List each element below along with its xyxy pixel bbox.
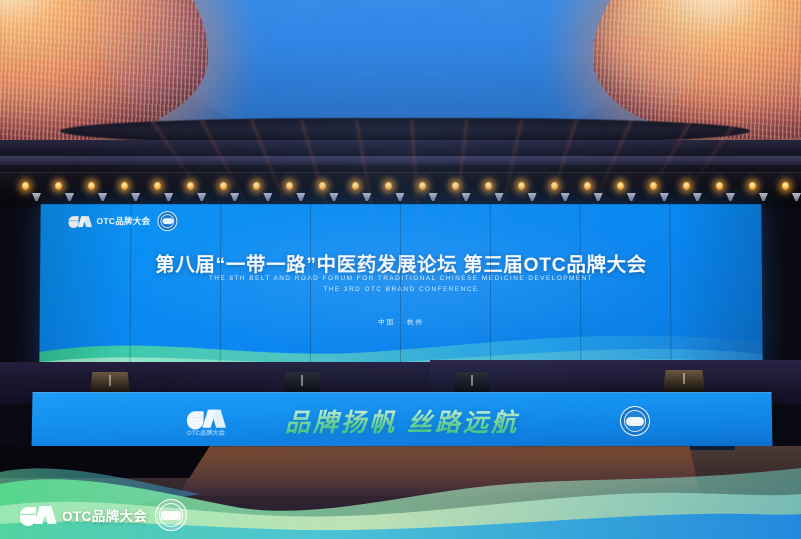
spotlight-icon xyxy=(683,182,690,190)
light-fixture-icon xyxy=(164,193,173,201)
podium-slogan: 品牌扬帆 丝路远航 xyxy=(32,403,773,439)
spotlight-icon xyxy=(253,182,260,190)
light-fixture-icon xyxy=(561,193,570,201)
circular-seal-emblem-icon xyxy=(155,499,187,531)
light-fixture-icon xyxy=(495,193,504,201)
watermark-brand-text: OTC品牌大会 xyxy=(62,505,147,525)
screen-panel-seam xyxy=(400,204,401,372)
spotlight-icon xyxy=(352,182,359,190)
lectern xyxy=(663,370,705,392)
spotlight-icon xyxy=(22,182,29,190)
light-fixture-icon xyxy=(362,193,371,201)
light-fixture-icon xyxy=(263,193,272,201)
led-screen: OTC品牌大会 第八届“一带一路”中医药发展论坛 第三届OTC品牌大会 THE … xyxy=(39,204,762,372)
spotlight-icon xyxy=(88,182,95,190)
light-fixture-icon xyxy=(594,193,603,201)
spotlight-icon xyxy=(650,182,657,190)
lighting-truss xyxy=(0,172,801,207)
screen-vignette xyxy=(39,204,762,372)
light-fixture-icon xyxy=(759,193,768,201)
spotlight-icon xyxy=(419,182,426,190)
light-fixture-icon xyxy=(726,193,735,201)
led-screen-content: OTC品牌大会 第八届“一带一路”中医药发展论坛 第三届OTC品牌大会 THE … xyxy=(39,204,762,372)
spotlight-icon xyxy=(154,182,161,190)
spotlight-icon xyxy=(584,182,591,190)
lectern xyxy=(283,372,321,394)
lectern xyxy=(453,372,491,394)
crystal-chandelier-icon xyxy=(593,0,801,140)
light-fixture-icon xyxy=(296,193,305,201)
spotlight-icon xyxy=(220,182,227,190)
light-fixture-icon xyxy=(627,193,636,201)
light-fixture-icon xyxy=(98,193,107,201)
spotlight-icon xyxy=(782,182,789,190)
stage-floor: OTC品牌大会 xyxy=(0,446,801,539)
light-fixture-icon xyxy=(131,193,140,201)
light-fixture-icon xyxy=(197,193,206,201)
spotlight-icon xyxy=(518,182,525,190)
otc-logo-mark-icon xyxy=(20,505,54,526)
spotlight-icon xyxy=(55,182,62,190)
light-fixture-icon xyxy=(660,193,669,201)
podium-banner: OTC品牌大会 品牌扬帆 丝路远航 xyxy=(31,392,772,450)
light-fixture-icon xyxy=(329,193,338,201)
ceiling-band xyxy=(0,156,801,165)
circular-seal-emblem-icon xyxy=(620,406,650,436)
spotlight-icon xyxy=(716,182,723,190)
spotlight-icon xyxy=(121,182,128,190)
spotlight-icon xyxy=(385,182,392,190)
ceiling-band xyxy=(0,140,801,156)
watermark-logo: OTC品牌大会 xyxy=(20,499,187,531)
spotlight-icon xyxy=(485,182,492,190)
conference-stage-photo: OTC品牌大会 第八届“一带一路”中医药发展论坛 第三届OTC品牌大会 THE … xyxy=(0,0,801,539)
spotlight-icon xyxy=(551,182,558,190)
light-fixture-icon xyxy=(462,193,471,201)
light-fixture-icon xyxy=(32,193,41,201)
light-fixture-icon xyxy=(230,193,239,201)
spotlight-icon xyxy=(749,182,756,190)
light-fixture-icon xyxy=(528,193,537,201)
light-fixture-icon xyxy=(65,193,74,201)
lectern xyxy=(90,372,130,394)
light-fixture-icon xyxy=(395,193,404,201)
spotlight-icon xyxy=(187,182,194,190)
light-fixture-icon xyxy=(792,193,801,201)
spotlight-icon xyxy=(617,182,624,190)
light-fixture-icon xyxy=(693,193,702,201)
light-fixture-icon xyxy=(429,193,438,201)
spotlight-icon xyxy=(452,182,459,190)
spotlight-icon xyxy=(319,182,326,190)
spotlight-icon xyxy=(286,182,293,190)
